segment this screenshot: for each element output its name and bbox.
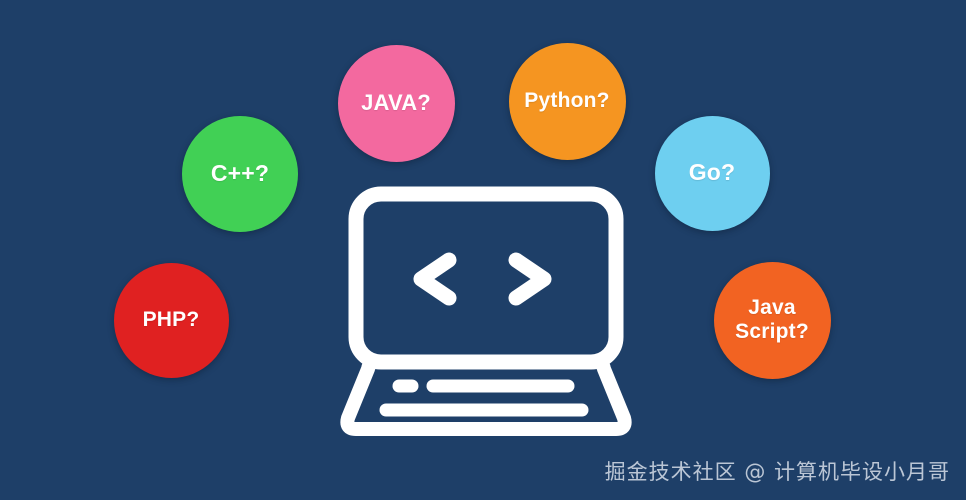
bubble-java: JAVA? [338,45,455,162]
bubble-cpp: C++? [182,116,298,232]
laptop-base-outline [347,362,624,429]
chevron-left-icon [421,260,449,298]
bubble-javascript-label: Java Script? [735,296,809,343]
bubble-cpp-label: C++? [211,161,269,187]
bubble-python-label: Python? [524,89,609,113]
bubble-java-label: JAVA? [361,91,431,116]
bubble-php: PHP? [114,263,229,378]
bubble-javascript: Java Script? [714,262,831,379]
illustration-canvas: PHP? C++? JAVA? Python? Go? Java Script? [0,0,966,500]
chevron-right-icon [516,260,544,298]
bubble-php-label: PHP? [143,308,200,332]
bubble-go: Go? [655,116,770,231]
laptop-code-icon [333,186,639,438]
bubble-go-label: Go? [689,160,736,186]
watermark-text: 掘金技术社区 @ 计算机毕设小月哥 [605,456,950,486]
bubble-python: Python? [509,43,626,160]
laptop-screen-outline [356,194,616,362]
